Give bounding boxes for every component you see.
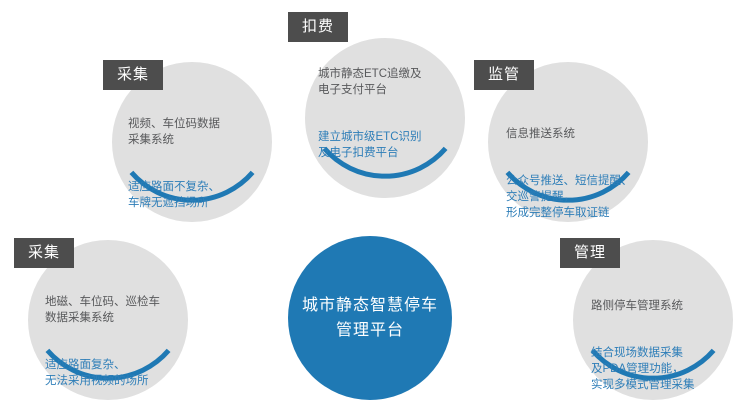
node-text-manage: 路侧停车管理系统 结合现场数据采集 及PDA管理功能， 实现多模式管理采集 xyxy=(591,282,741,409)
diagram-canvas: 采集 视频、车位码数据 采集系统 适应路面不复杂、 车牌无遮挡场所 扣费 城市静… xyxy=(0,0,744,411)
node-sub-supervise: 公众号推送、短信提醒、 交巡警提醒， 形成完整停车取证链 xyxy=(506,173,656,221)
node-head-manage: 路侧停车管理系统 xyxy=(591,298,741,314)
node-text-deduct-fee: 城市静态ETC追缴及 电子支付平台 建立城市级ETC识别 及电子扣费平台 xyxy=(318,50,458,177)
node-tag-collect-video: 采集 xyxy=(103,60,163,90)
node-sub-deduct-fee: 建立城市级ETC识别 及电子扣费平台 xyxy=(318,129,458,161)
node-sub-collect-geomagnetic: 适应路面复杂、 无法采用视频的场所 xyxy=(45,357,195,389)
node-tag-collect-geomagnetic: 采集 xyxy=(14,238,74,268)
node-tag-supervise: 监管 xyxy=(474,60,534,90)
node-sub-manage: 结合现场数据采集 及PDA管理功能， 实现多模式管理采集 xyxy=(591,345,741,393)
node-head-supervise: 信息推送系统 xyxy=(506,126,656,142)
node-text-supervise: 信息推送系统 公众号推送、短信提醒、 交巡警提醒， 形成完整停车取证链 xyxy=(506,110,656,237)
node-text-collect-video: 视频、车位码数据 采集系统 适应路面不复杂、 车牌无遮挡场所 xyxy=(128,100,258,227)
node-head-collect-geomagnetic: 地磁、车位码、巡检车 数据采集系统 xyxy=(45,294,195,326)
node-tag-deduct-fee: 扣费 xyxy=(288,12,348,42)
node-sub-collect-video: 适应路面不复杂、 车牌无遮挡场所 xyxy=(128,179,258,211)
hub-circle[interactable]: 城市静态智慧停车 管理平台 xyxy=(288,236,452,400)
hub-label: 城市静态智慧停车 管理平台 xyxy=(288,236,452,400)
node-text-collect-geomagnetic: 地磁、车位码、巡检车 数据采集系统 适应路面复杂、 无法采用视频的场所 xyxy=(45,278,195,405)
node-head-deduct-fee: 城市静态ETC追缴及 电子支付平台 xyxy=(318,66,458,98)
node-head-collect-video: 视频、车位码数据 采集系统 xyxy=(128,116,258,148)
node-tag-manage: 管理 xyxy=(560,238,620,268)
